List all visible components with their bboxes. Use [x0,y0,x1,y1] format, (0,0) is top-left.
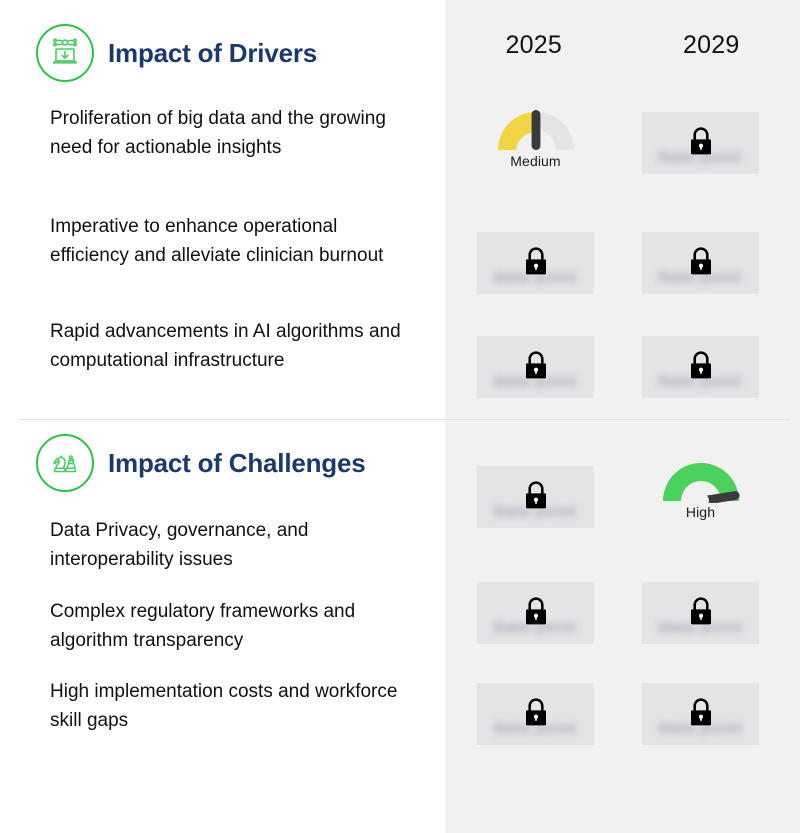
lock-icon [686,125,716,159]
locked-placeholder: Data point [642,336,759,398]
cell-challenges-1-2029[interactable]: High [642,455,759,541]
impact-matrix-page: 2025 2029 Impact of Drivers [0,0,800,833]
cell-drivers-1-2029[interactable]: Data point [642,104,759,190]
cell-drivers-2-2029[interactable]: Data point [642,224,759,310]
cell-drivers-1-2025[interactable]: Medium [477,104,594,190]
locked-placeholder: Data point [642,683,759,745]
lock-icon [686,595,716,629]
lock-icon [521,595,551,629]
lock-icon [521,245,551,279]
locked-placeholder: Data point [642,232,759,294]
locked-placeholder: Data point [642,112,759,174]
lock-icon [686,245,716,279]
locked-placeholder: Data point [477,232,594,294]
gauge-label-medium: Medium [477,153,594,169]
lock-icon [521,349,551,383]
section-title-drivers: Impact of Drivers [108,38,317,69]
row-label-drivers-2: Imperative to enhance operational effici… [50,212,410,270]
section-title-challenges: Impact of Challenges [108,448,366,479]
cell-challenges-1-2025[interactable]: Data point [477,458,594,544]
gauge-arc [659,457,743,503]
column-header-2029: 2029 [623,22,800,68]
row-label-drivers-1: Proliferation of big data and the growin… [50,104,410,162]
column-header-row: 2025 2029 [445,22,800,68]
lock-icon [521,479,551,513]
cell-challenges-2-2025[interactable]: Data point [477,574,594,660]
cell-drivers-3-2029[interactable]: Data point [642,328,759,414]
locked-placeholder: Data point [477,336,594,398]
cell-challenges-3-2029[interactable]: Data point [642,675,759,761]
gauge-arc [494,106,578,152]
lock-icon [686,349,716,383]
row-label-drivers-3: Rapid advancements in AI algorithms and … [50,317,410,375]
cell-challenges-2-2029[interactable]: Data point [642,574,759,660]
locked-placeholder: Data point [477,582,594,644]
locked-placeholder: Data point [642,582,759,644]
cell-challenges-3-2025[interactable]: Data point [477,675,594,761]
column-header-2025: 2025 [445,22,623,68]
laptop-download-network-icon [36,24,94,82]
gauge-label-high: High [642,504,759,520]
chess-pieces-icon [36,434,94,492]
lock-icon [521,696,551,730]
left-content-column: Impact of Drivers Impact of Challenges P… [0,0,445,833]
section-header-drivers: Impact of Drivers [36,24,317,82]
cell-drivers-2-2025[interactable]: Data point [477,224,594,310]
locked-placeholder: Data point [477,466,594,528]
row-label-challenges-2: Complex regulatory frameworks and algori… [50,597,410,655]
gauge-high: High [642,455,759,520]
section-header-challenges: Impact of Challenges [36,434,366,492]
cell-drivers-3-2025[interactable]: Data point [477,328,594,414]
row-label-challenges-1: Data Privacy, governance, and interopera… [50,516,410,574]
locked-placeholder: Data point [477,683,594,745]
row-label-challenges-3: High implementation costs and workforce … [50,677,410,735]
gauge-medium: Medium [477,104,594,169]
lock-icon [686,696,716,730]
